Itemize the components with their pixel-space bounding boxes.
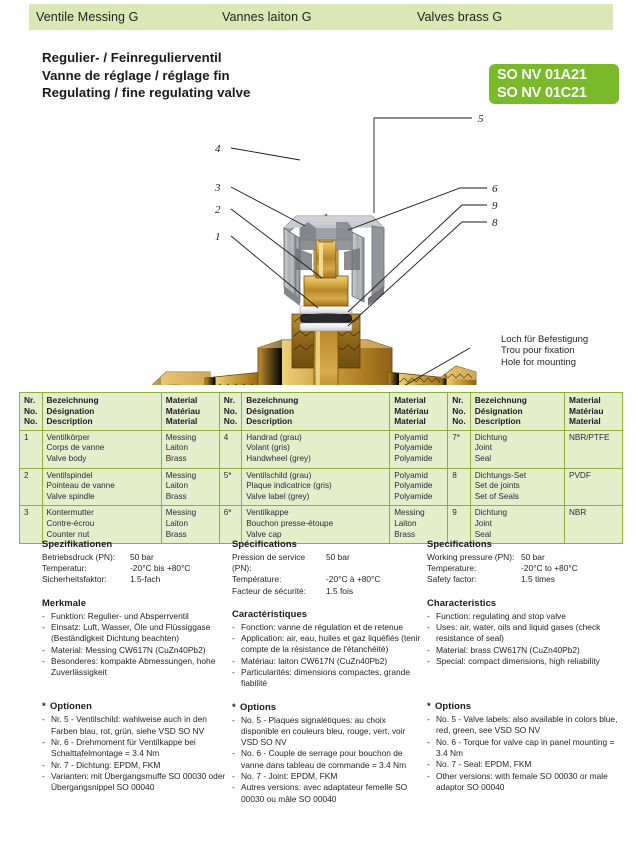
page-title-fr: Vanne de réglage / réglage fin xyxy=(42,67,442,85)
options-heading-de: * Optionen xyxy=(42,700,227,711)
header-nr-group1: Nr. No. No. xyxy=(20,393,43,431)
table-row: 1 Ventilkörper Corps de vanne Valve body… xyxy=(20,430,623,468)
characteristics-list-fr: -Fonction: vanne de régulation et de ret… xyxy=(232,622,422,690)
list-item: -Matériau: laiton CW617N (CuZn40Pb2) xyxy=(232,656,422,667)
header-mat-group2: Material Matériau Material xyxy=(390,393,448,431)
product-code-badge: SO NV 01A21 SO NV 01C21 xyxy=(489,64,619,104)
cell-desc: Dichtungs-Set Set de joints Set of Seals xyxy=(470,468,564,506)
spec-value: -20°C à +80°C xyxy=(326,574,422,585)
spec-row: Safety factor: 1.5 times xyxy=(427,574,627,585)
spec-label: Working pressure (PN): xyxy=(427,552,521,563)
list-item: -Other versions: with female SO 00030 or… xyxy=(427,771,627,794)
dash-bullet: - xyxy=(427,771,430,782)
spec-label: Pression de service (PN): xyxy=(232,552,326,574)
spec-heading-fr: Spécifications xyxy=(232,538,422,549)
spec-label: Temperature: xyxy=(427,563,521,574)
options-heading-en: * Options xyxy=(427,700,627,711)
cell-desc: Ventilschild (grau) Plaque indicatrice (… xyxy=(242,468,390,506)
asterisk-marker: * xyxy=(427,700,431,711)
spec-value: 1.5 fois xyxy=(326,586,422,597)
dash-bullet: - xyxy=(232,622,235,633)
spec-heading-en: Specifications xyxy=(427,538,627,549)
list-item: -No. 6 - Torque for valve cap in panel m… xyxy=(427,737,627,760)
parts-table: Nr. No. No. Bezeichnung Désignation Desc… xyxy=(19,392,623,544)
product-code-1: SO NV 01A21 xyxy=(497,66,619,84)
dash-bullet: - xyxy=(42,737,45,748)
header-lang-de: Ventile Messing G xyxy=(29,10,222,24)
asterisk-marker: * xyxy=(232,701,236,712)
options-list-de: -Nr. 5 - Ventilschild: wahlweise auch in… xyxy=(42,714,227,793)
dash-bullet: - xyxy=(42,656,45,667)
list-item: -Fonction: vanne de régulation et de ret… xyxy=(232,622,422,633)
spec-value: 50 bar xyxy=(521,552,627,563)
dash-bullet: - xyxy=(42,645,45,656)
table-row: 2 Ventilspindel Pointeau de vanne Valve … xyxy=(20,468,623,506)
header-mat-group1: Material Matériau Material xyxy=(161,393,219,431)
list-item: -Nr. 5 - Ventilschild: wahlweise auch in… xyxy=(42,714,227,737)
cell-nr: 8 xyxy=(448,468,471,506)
list-item: -No. 5 - Valve labels: also available in… xyxy=(427,714,627,737)
list-item: -No. 6 - Couple de serrage pour bouchon … xyxy=(232,748,422,771)
header-mat-group3: Material Matériau Material xyxy=(565,393,623,431)
cell-nr: 1 xyxy=(20,430,43,468)
spec-value: -20°C to +80°C xyxy=(521,563,627,574)
cell-desc: Ventilspindel Pointeau de vanne Valve sp… xyxy=(42,468,161,506)
dash-bullet: - xyxy=(427,611,430,622)
options-list-fr: -No. 5 - Plaques signalétiques: au choix… xyxy=(232,715,422,805)
callout-9: 9 xyxy=(492,200,498,212)
list-item: -No. 7 - Seal: EPDM, FKM xyxy=(427,759,627,770)
language-header-bar: Ventile Messing G Vannes laiton G Valves… xyxy=(29,4,613,30)
list-item: -Nr. 7 - Dichtung: EPDM, FKM xyxy=(42,760,227,771)
dash-bullet: - xyxy=(427,645,430,656)
dash-bullet: - xyxy=(232,748,235,759)
header-desc-group1: Bezeichnung Désignation Description xyxy=(42,393,161,431)
list-item: -Material: brass CW617N (CuZn40Pb2) xyxy=(427,645,627,656)
cell-nr: 2 xyxy=(20,468,43,506)
header-desc-group3: Bezeichnung Désignation Description xyxy=(470,393,564,431)
page-title: Regulier- / Feinregulierventil Vanne de … xyxy=(42,49,442,102)
header-nr-group2: Nr. No. No. xyxy=(219,393,242,431)
asterisk-marker: * xyxy=(42,700,46,711)
page-title-de: Regulier- / Feinregulierventil xyxy=(42,49,442,67)
callout-6: 6 xyxy=(492,183,498,195)
cell-material: Polyamid Polyamide Polyamide xyxy=(390,468,448,506)
info-columns: Spezifikationen Betriebsdruck (PN): 50 b… xyxy=(0,538,642,843)
dash-bullet: - xyxy=(42,611,45,622)
dash-bullet: - xyxy=(427,622,430,633)
spec-row: Working pressure (PN): 50 bar xyxy=(427,552,627,563)
dash-bullet: - xyxy=(232,656,235,667)
header-nr-group3: Nr. No. No. xyxy=(448,393,471,431)
dash-bullet: - xyxy=(232,633,235,644)
column-fr: Spécifications Pression de service (PN):… xyxy=(232,538,422,805)
characteristics-list-en: -Function: regulating and stop valve -Us… xyxy=(427,611,627,667)
dash-bullet: - xyxy=(42,714,45,725)
list-item: -Einsatz: Luft, Wasser, Öle und Flüssigg… xyxy=(42,622,227,645)
spec-label: Betriebsdruck (PN): xyxy=(42,552,130,563)
dash-bullet: - xyxy=(42,760,45,771)
dash-bullet: - xyxy=(232,667,235,678)
list-item: -No. 5 - Plaques signalétiques: au choix… xyxy=(232,715,422,749)
dash-bullet: - xyxy=(232,771,235,782)
list-item: -No. 7 - Joint: EPDM, FKM xyxy=(232,771,422,782)
cell-material: Messing Laiton Brass xyxy=(161,430,219,468)
spec-row: Temperatur: -20°C bis +80°C xyxy=(42,563,227,574)
list-item: -Autres versions: avec adaptateur femell… xyxy=(232,782,422,805)
spec-row: Température: -20°C à +80°C xyxy=(232,574,422,585)
spec-row: Betriebsdruck (PN): 50 bar xyxy=(42,552,227,563)
callout-1: 1 xyxy=(215,231,221,243)
callout-2: 2 xyxy=(215,204,221,216)
callout-8: 8 xyxy=(492,217,498,229)
dash-bullet: - xyxy=(427,656,430,667)
cell-nr: 5* xyxy=(219,468,242,506)
characteristics-heading-de: Merkmale xyxy=(42,597,227,608)
cell-material: PVDF xyxy=(565,468,623,506)
parts-table-header-row: Nr. No. No. Bezeichnung Désignation Desc… xyxy=(20,393,623,431)
spec-row: Sicherheitsfaktor: 1.5-fach xyxy=(42,574,227,585)
dash-bullet: - xyxy=(42,771,45,782)
spec-label: Safety factor: xyxy=(427,574,521,585)
column-en: Specifications Working pressure (PN): 50… xyxy=(427,538,627,793)
spec-value: 1.5 times xyxy=(521,574,627,585)
mounting-hole-note-fr: Trou pour fixation xyxy=(501,345,641,356)
characteristics-heading-en: Characteristics xyxy=(427,597,627,608)
dash-bullet: - xyxy=(232,782,235,793)
cell-desc: Handrad (grau) Volant (gris) Handwheel (… xyxy=(242,430,390,468)
spec-value: 50 bar xyxy=(326,552,422,574)
dash-bullet: - xyxy=(232,715,235,726)
column-de: Spezifikationen Betriebsdruck (PN): 50 b… xyxy=(42,538,227,793)
dash-bullet: - xyxy=(427,714,430,725)
list-item: -Material: Messing CW617N (CuZn40Pb2) xyxy=(42,645,227,656)
options-list-en: -No. 5 - Valve labels: also available in… xyxy=(427,714,627,793)
spec-row: Facteur de sécurité: 1.5 fois xyxy=(232,586,422,597)
dash-bullet: - xyxy=(427,737,430,748)
cell-material: Polyamid Polyamide Polyamide xyxy=(390,430,448,468)
list-item: -Particularités: dimensions compactes, g… xyxy=(232,667,422,690)
options-heading-fr: * Options xyxy=(232,701,422,712)
cell-nr: 7* xyxy=(448,430,471,468)
spec-heading-de: Spezifikationen xyxy=(42,538,227,549)
list-item: -Application: air, eau, huiles et gaz li… xyxy=(232,633,422,656)
dash-bullet: - xyxy=(42,622,45,633)
mounting-hole-note: Loch für Befestigung Trou pour fixation … xyxy=(501,334,641,368)
list-item: -Varianten: mit Übergangsmuffe SO 00030 … xyxy=(42,771,227,794)
cell-desc: Ventilkörper Corps de vanne Valve body xyxy=(42,430,161,468)
callout-5: 5 xyxy=(478,113,484,125)
spec-label: Facteur de sécurité: xyxy=(232,586,326,597)
mounting-hole-note-de: Loch für Befestigung xyxy=(501,334,641,345)
spec-label: Sicherheitsfaktor: xyxy=(42,574,130,585)
list-item: -Special: compact dimensions, high relia… xyxy=(427,656,627,667)
spec-value: 1.5-fach xyxy=(130,574,227,585)
spec-row: Temperature: -20°C to +80°C xyxy=(427,563,627,574)
spec-value: -20°C bis +80°C xyxy=(130,563,227,574)
cell-material: NBR/PTFE xyxy=(565,430,623,468)
spec-label: Température: xyxy=(232,574,326,585)
spec-value: 50 bar xyxy=(130,552,227,563)
cell-nr: 4 xyxy=(219,430,242,468)
cell-desc: Dichtung Joint Seal xyxy=(470,430,564,468)
callout-4: 4 xyxy=(215,143,221,155)
list-item: -Uses: air, water, oils and liquid gases… xyxy=(427,622,627,645)
list-item: -Function: regulating and stop valve xyxy=(427,611,627,622)
header-lang-en: Valves brass G xyxy=(417,10,613,24)
list-item: -Funktion: Regulier- und Absperrventil xyxy=(42,611,227,622)
dash-bullet: - xyxy=(427,759,430,770)
mounting-hole-note-en: Hole for mounting xyxy=(501,357,641,368)
characteristics-list-de: -Funktion: Regulier- und Absperrventil -… xyxy=(42,611,227,679)
header-desc-group2: Bezeichnung Désignation Description xyxy=(242,393,390,431)
callout-3: 3 xyxy=(214,182,221,194)
header-lang-fr: Vannes laiton G xyxy=(222,10,417,24)
cell-material: Messing Laiton Brass xyxy=(161,468,219,506)
spec-label: Temperatur: xyxy=(42,563,130,574)
list-item: -Nr. 6 - Drehmoment für Ventilkappe bei … xyxy=(42,737,227,760)
list-item: -Besonderes: kompakte Abmessungen, hohe … xyxy=(42,656,227,679)
spec-row: Pression de service (PN): 50 bar xyxy=(232,552,422,574)
characteristics-heading-fr: Caractéristiques xyxy=(232,608,422,619)
